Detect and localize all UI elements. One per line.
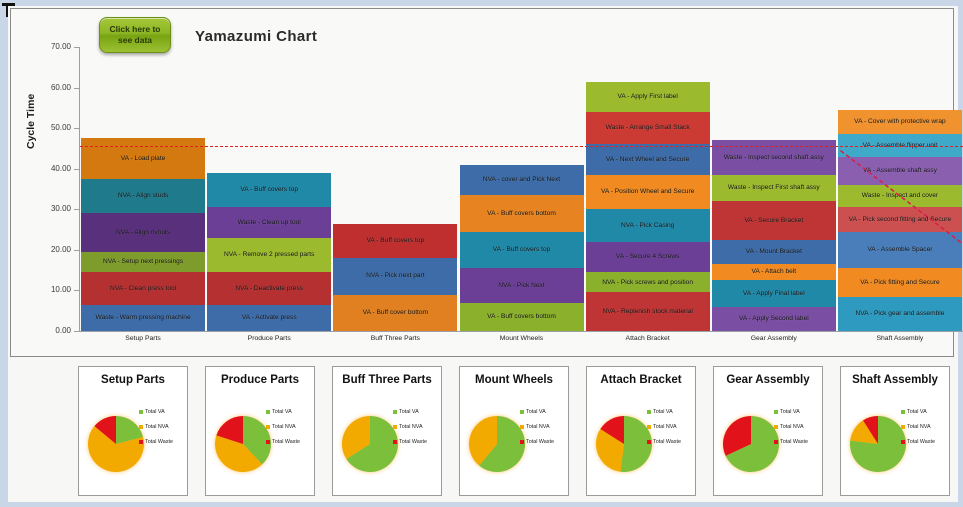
bar-segment[interactable]: VA - Assemble Spacer (838, 232, 962, 269)
x-axis-category-label: Attach Bracket (586, 335, 710, 342)
worksheet-background: Click here to see data Yamazumi Chart Cy… (8, 6, 958, 502)
pie-legend-label: Total Waste (526, 439, 554, 445)
bar-segment[interactable]: VA - Attach belt (712, 264, 836, 280)
pie-legend-label: Total Waste (907, 439, 935, 445)
pie-legend-item: Total Waste (266, 439, 310, 445)
pie-summary-card[interactable]: Mount WheelsTotal VATotal NVATotal Waste (459, 366, 569, 496)
pie-chart (85, 413, 147, 475)
pie-card-title: Shaft Assembly (841, 374, 949, 387)
stacked-bar-series: VA - Load plateNVA - Align studsNVA - Al… (80, 39, 963, 331)
pie-legend-label: Total Waste (653, 439, 681, 445)
y-axis-tick-mark (74, 169, 79, 170)
legend-swatch-icon (774, 440, 778, 444)
pie-chart (466, 413, 528, 475)
pie-chart (212, 413, 274, 475)
y-axis-tick-label: 40.00 (35, 164, 71, 173)
bar-segment[interactable]: VA - Secure 4 Screws (586, 242, 710, 272)
pie-legend-label: Total Waste (272, 439, 300, 445)
bar-segment[interactable]: VA - Buff cover bottom (333, 295, 457, 332)
legend-swatch-icon (901, 410, 905, 414)
pie-legend: Total VATotal NVATotal Waste (520, 409, 564, 454)
pie-legend: Total VATotal NVATotal Waste (393, 409, 437, 454)
bar-segment[interactable]: NVA - Remove 2 pressed parts (207, 238, 331, 272)
bar-segment[interactable]: Waste - Warm pressing machine (81, 305, 205, 331)
bar-segment[interactable]: NVA - Replenish stock material (586, 292, 710, 331)
legend-swatch-icon (901, 440, 905, 444)
y-axis-title: Cycle Time (25, 94, 37, 149)
x-axis-line (79, 331, 963, 332)
bar-segment[interactable]: VA - Mount Bracket (712, 240, 836, 264)
x-axis-category-label: Produce Parts (207, 335, 331, 342)
pie-legend-label: Total NVA (145, 424, 169, 430)
pie-card-title: Produce Parts (206, 374, 314, 387)
bar-segment[interactable]: VA - Assemble shaft assy (838, 157, 962, 185)
pie-legend-label: Total VA (526, 409, 546, 415)
legend-swatch-icon (139, 410, 143, 414)
x-axis-category-label: Shaft Assembly (838, 335, 962, 342)
bar-segment[interactable]: VA - Secure Bracket (712, 201, 836, 240)
bar-segment[interactable]: VA - Pick second fitting and Secure (838, 207, 962, 231)
pie-legend-item: Total VA (901, 409, 945, 415)
legend-swatch-icon (266, 425, 270, 429)
pie-legend-item: Total VA (139, 409, 183, 415)
pie-card-title: Buff Three Parts (333, 374, 441, 387)
y-axis-tick-mark (74, 331, 79, 332)
bar-segment[interactable]: NVA - Pick Casing (586, 209, 710, 241)
pie-legend-item: Total Waste (139, 439, 183, 445)
pie-chart (847, 413, 909, 475)
pie-legend-item: Total VA (266, 409, 310, 415)
stacked-bar-column[interactable]: Waste - Inspect second shaft assyWaste -… (712, 140, 836, 331)
bar-segment[interactable]: NVA - Deactivate press (207, 272, 331, 304)
bar-segment[interactable]: VA - Position Wheel and Secure (586, 175, 710, 209)
pie-legend-label: Total NVA (653, 424, 677, 430)
pie-legend-label: Total NVA (399, 424, 423, 430)
bar-segment[interactable]: NVA - cover and Pick Next (460, 165, 584, 195)
plot-area: 0.0010.0020.0030.0040.0050.0060.0070.00 … (79, 39, 963, 339)
pie-legend: Total VATotal NVATotal Waste (774, 409, 818, 454)
pie-legend-item: Total Waste (520, 439, 564, 445)
pie-legend-label: Total VA (653, 409, 673, 415)
pie-legend: Total VATotal NVATotal Waste (901, 409, 945, 454)
bar-segment[interactable]: NVA - Setup next pressings (81, 252, 205, 272)
bar-segment[interactable]: NVA - Pick screws and position (586, 272, 710, 292)
y-axis-tick-label: 30.00 (35, 204, 71, 213)
pie-legend-label: Total Waste (145, 439, 173, 445)
stacked-bar-column[interactable]: VA - Buff covers topWaste - Clean up too… (207, 173, 331, 331)
pie-legend-item: Total Waste (647, 439, 691, 445)
bar-segment[interactable]: NVA - Pick Next (460, 268, 584, 302)
bar-segment[interactable]: VA - Buff covers top (333, 224, 457, 258)
bar-segment[interactable]: VA - Next Wheel and Secure (586, 144, 710, 174)
pie-legend-item: Total Waste (901, 439, 945, 445)
stacked-bar-column[interactable]: VA - Cover with protective wrapVA - Asse… (838, 110, 962, 331)
pie-legend-label: Total VA (907, 409, 927, 415)
y-axis-tick-label: 20.00 (35, 245, 71, 254)
pie-legend-item: Total VA (774, 409, 818, 415)
pie-chart (339, 413, 401, 475)
x-axis-category-label: Buff Three Parts (333, 335, 457, 342)
legend-swatch-icon (647, 410, 651, 414)
bar-segment[interactable]: NVA - Align rivnuts (81, 213, 205, 252)
bar-segment[interactable]: Waste - Clean up tool (207, 207, 331, 237)
y-axis-tick-mark (74, 128, 79, 129)
bar-segment[interactable]: NVA - Clean press tool (81, 272, 205, 304)
y-axis-tick-label: 50.00 (35, 123, 71, 132)
y-axis-tick-mark (74, 290, 79, 291)
legend-swatch-icon (774, 410, 778, 414)
pie-legend: Total VATotal NVATotal Waste (139, 409, 183, 454)
legend-swatch-icon (647, 425, 651, 429)
pie-card-title: Mount Wheels (460, 374, 568, 387)
pie-card-row: Setup PartsTotal VATotal NVATotal WasteP… (10, 362, 954, 500)
pie-legend-item: Total Waste (774, 439, 818, 445)
pie-legend-label: Total NVA (907, 424, 931, 430)
bar-segment[interactable]: VA - Buff covers top (207, 173, 331, 207)
pie-legend-label: Total VA (145, 409, 165, 415)
bar-segment[interactable]: VA - Activate press (207, 305, 331, 331)
pie-legend-label: Total NVA (526, 424, 550, 430)
pie-card-title: Attach Bracket (587, 374, 695, 387)
bar-segment[interactable]: VA - Buff covers bottom (460, 195, 584, 232)
stacked-bar-column[interactable]: VA - Load plateNVA - Align studsNVA - Al… (81, 138, 205, 331)
pie-summary-card[interactable]: Attach BracketTotal VATotal NVATotal Was… (586, 366, 696, 496)
bar-segment[interactable]: Waste - Arrange Small Stack (586, 112, 710, 144)
pie-chart (720, 413, 782, 475)
y-axis-tick-mark (74, 88, 79, 89)
legend-swatch-icon (901, 425, 905, 429)
bar-segment[interactable]: NVA - Pick gear and assemble (838, 297, 962, 331)
pie-legend: Total VATotal NVATotal Waste (647, 409, 691, 454)
pie-legend-item: Total NVA (520, 424, 564, 430)
y-axis-tick-mark (74, 250, 79, 251)
bar-segment[interactable]: NVA - Pick next part (333, 258, 457, 295)
bar-segment[interactable]: Waste - Inspect First shaft assy (712, 175, 836, 201)
legend-swatch-icon (139, 425, 143, 429)
pie-legend-label: Total Waste (399, 439, 427, 445)
bar-segment[interactable]: VA - Pick fitting and Secure (838, 268, 962, 296)
pie-legend-item: Total VA (647, 409, 691, 415)
pie-summary-card[interactable]: Setup PartsTotal VATotal NVATotal Waste (78, 366, 188, 496)
stacked-bar-column[interactable]: NVA - cover and Pick NextVA - Buff cover… (460, 165, 584, 331)
legend-swatch-icon (266, 440, 270, 444)
legend-swatch-icon (520, 425, 524, 429)
pie-legend-label: Total NVA (780, 424, 804, 430)
legend-swatch-icon (520, 410, 524, 414)
y-axis-tick-mark (74, 209, 79, 210)
bar-segment[interactable]: VA - Buff covers top (460, 232, 584, 269)
x-axis-category-label: Mount Wheels (460, 335, 584, 342)
y-axis-tick-mark (74, 47, 79, 48)
pie-summary-card[interactable]: Produce PartsTotal VATotal NVATotal Wast… (205, 366, 315, 496)
bar-segment[interactable]: VA - Apply Second label (712, 307, 836, 331)
legend-swatch-icon (774, 425, 778, 429)
pie-summary-card[interactable]: Buff Three PartsTotal VATotal NVATotal W… (332, 366, 442, 496)
bar-segment[interactable]: VA - Cover with protective wrap (838, 110, 962, 134)
stacked-bar-column[interactable]: VA - Buff covers topNVA - Pick next part… (333, 224, 457, 331)
pie-legend-item: Total NVA (774, 424, 818, 430)
pie-legend-item: Total Waste (393, 439, 437, 445)
legend-swatch-icon (520, 440, 524, 444)
pie-legend-label: Total VA (272, 409, 292, 415)
pie-summary-card[interactable]: Gear AssemblyTotal VATotal NVATotal Wast… (713, 366, 823, 496)
pie-legend-label: Total VA (780, 409, 800, 415)
pie-legend-item: Total NVA (647, 424, 691, 430)
y-axis-tick-label: 10.00 (35, 285, 71, 294)
legend-swatch-icon (647, 440, 651, 444)
stacked-bar-column[interactable]: VA - Apply First labelWaste - Arrange Sm… (586, 82, 710, 331)
pie-legend-label: Total VA (399, 409, 419, 415)
bar-segment[interactable]: VA - Apply First label (586, 82, 710, 112)
pie-summary-card[interactable]: Shaft AssemblyTotal VATotal NVATotal Was… (840, 366, 950, 496)
pie-chart (593, 413, 655, 475)
pie-legend-item: Total VA (520, 409, 564, 415)
pie-legend-item: Total NVA (901, 424, 945, 430)
bar-segment[interactable]: VA - Load plate (81, 138, 205, 179)
y-axis-tick-label: 70.00 (35, 42, 71, 51)
bar-segment[interactable]: NVA - Align studs (81, 179, 205, 213)
pie-card-title: Gear Assembly (714, 374, 822, 387)
legend-swatch-icon (139, 440, 143, 444)
pie-legend-item: Total VA (393, 409, 437, 415)
bar-segment[interactable]: VA - Buff covers bottom (460, 303, 584, 331)
legend-swatch-icon (393, 425, 397, 429)
pie-card-title: Setup Parts (79, 374, 187, 387)
legend-swatch-icon (393, 440, 397, 444)
yamazumi-chart-panel: Click here to see data Yamazumi Chart Cy… (10, 8, 954, 357)
y-axis-tick-label: 60.00 (35, 83, 71, 92)
y-axis-tick-label: 0.00 (35, 326, 71, 335)
x-axis-category-label: Setup Parts (81, 335, 205, 342)
takt-target-line (80, 146, 963, 147)
legend-swatch-icon (266, 410, 270, 414)
bar-segment[interactable]: Waste - Inspect and cover (838, 185, 962, 207)
pie-legend-item: Total NVA (266, 424, 310, 430)
pie-legend-label: Total Waste (780, 439, 808, 445)
x-axis-category-label: Gear Assembly (712, 335, 836, 342)
pie-legend-item: Total NVA (393, 424, 437, 430)
pie-legend: Total VATotal NVATotal Waste (266, 409, 310, 454)
legend-swatch-icon (393, 410, 397, 414)
bar-segment[interactable]: VA - Apply Final label (712, 280, 836, 306)
pie-legend-item: Total NVA (139, 424, 183, 430)
pie-legend-label: Total NVA (272, 424, 296, 430)
